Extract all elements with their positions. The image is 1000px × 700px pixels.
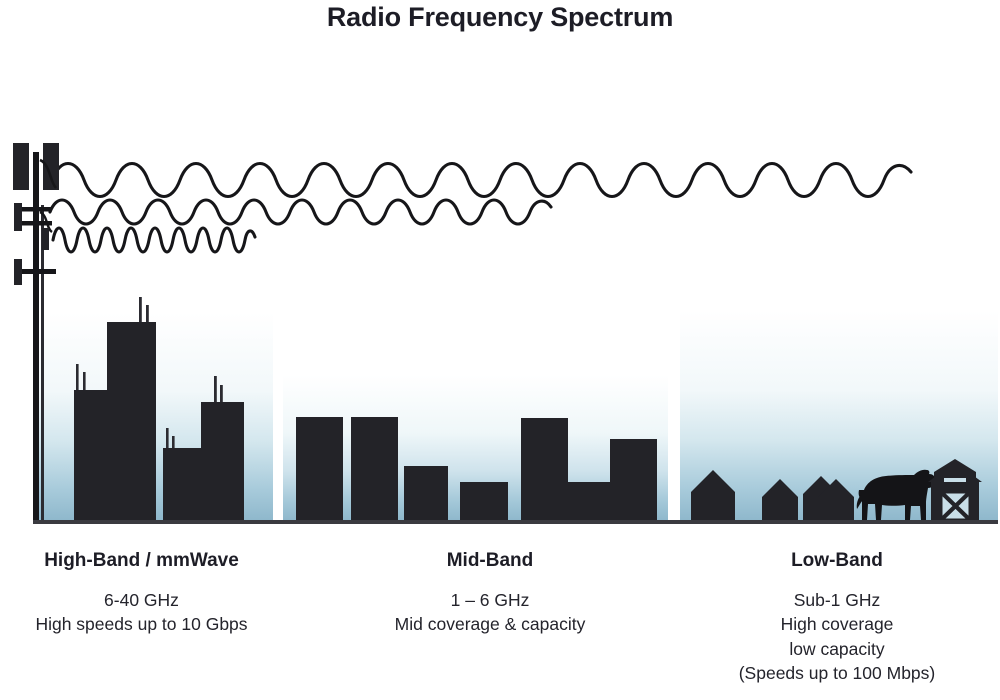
building [351,417,398,520]
antenna-crossarm-upper [22,207,52,212]
short-wave [53,228,255,252]
skyscraper [201,402,244,520]
building [568,482,610,520]
antenna-panel-top-left [13,143,29,190]
antenna-panel-small [42,228,49,250]
spire [214,376,217,406]
antenna-panel-mid [14,203,22,231]
band-caption-low: Low-Band Sub-1 GHz High coverage low cap… [672,548,1000,685]
medium-wave [50,200,551,224]
building [460,482,508,520]
band-title-high: High-Band / mmWave [0,548,283,574]
antenna-crossarm-lower [22,269,56,274]
skyscraper [74,390,107,520]
band-caption-high: High-Band / mmWave 6-40 GHz High speeds … [0,548,283,637]
tower-mast-secondary [41,205,44,520]
building [521,418,568,520]
band-title-low: Low-Band [672,548,1000,574]
skyscraper [163,448,201,520]
barn-loft-window [944,478,966,482]
band-caption-mid: Mid-Band 1 – 6 GHz Mid coverage & capaci… [330,548,650,637]
long-wave [52,164,911,197]
band-coverage-low: High coverage [672,612,1000,636]
band-speed-mid: Mid coverage & capacity [330,612,650,636]
radio-waves [50,164,911,253]
building [296,417,343,520]
building [404,466,448,520]
ground-line [33,520,998,524]
infographic-canvas: Radio Frequency Spectrum [0,0,1000,700]
building [610,439,657,520]
band-title-mid: Mid-Band [330,548,650,574]
band-speed-low: (Speeds up to 100 Mbps) [672,661,1000,685]
band-frequency-low: Sub-1 GHz [672,588,1000,612]
band-speed-high: High speeds up to 10 Gbps [0,612,283,636]
band-capacity-low: low capacity [672,637,1000,661]
band-frequency-mid: 1 – 6 GHz [330,588,650,612]
antenna-panel-lower [14,259,22,285]
skyscraper [107,322,156,520]
band-frequency-high: 6-40 GHz [0,588,283,612]
